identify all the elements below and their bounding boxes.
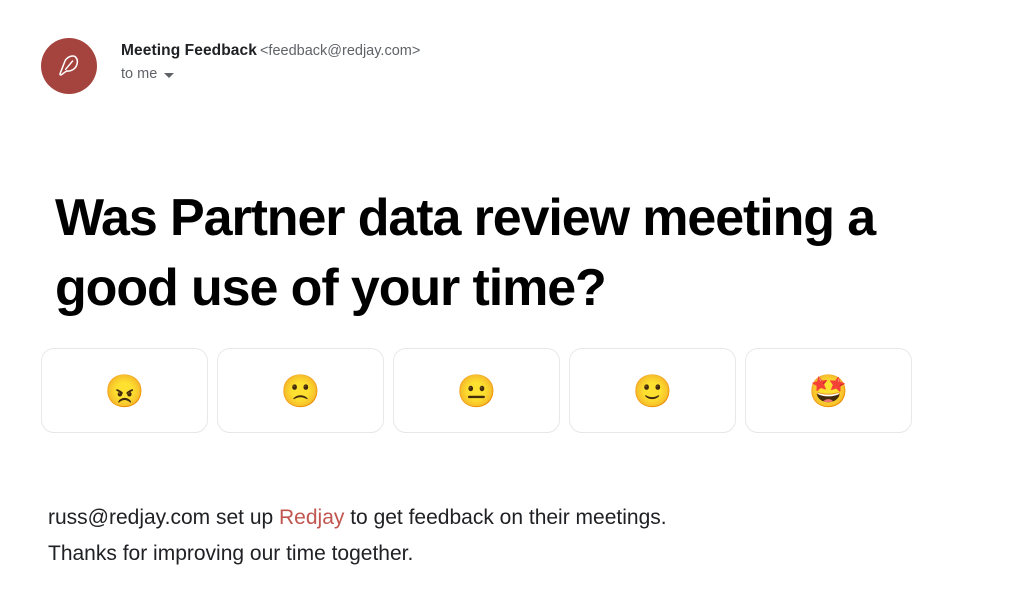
rating-option-angry[interactable]: 😠 <box>41 348 208 433</box>
chevron-down-icon[interactable] <box>164 73 174 78</box>
footer-line2: Thanks for improving our time together. <box>48 542 413 565</box>
recipient-label: to me <box>121 65 157 84</box>
angry-face-icon: 😠 <box>105 375 145 407</box>
sender-email: <feedback@redjay.com> <box>260 43 420 59</box>
star-struck-face-icon: 🤩 <box>809 375 849 407</box>
redjay-brand-link[interactable]: Redjay <box>279 506 344 529</box>
rating-option-neutral[interactable]: 😐 <box>393 348 560 433</box>
sender-line: Meeting Feedback<feedback@redjay.com> <box>121 41 420 61</box>
rating-option-frowning[interactable]: 🙁 <box>217 348 384 433</box>
avatar <box>41 38 97 94</box>
survey-question: Was Partner data review meeting a good u… <box>55 183 955 323</box>
frowning-face-icon: 🙁 <box>281 375 321 407</box>
bird-logo-icon <box>52 49 86 83</box>
neutral-face-icon: 😐 <box>457 375 497 407</box>
sender-name: Meeting Feedback <box>121 42 257 59</box>
footer-line1-suffix: to get feedback on their meetings. <box>344 506 666 529</box>
rating-options-row: 😠 🙁 😐 🙂 🤩 <box>41 348 912 433</box>
footer-line1-prefix: russ@redjay.com set up <box>48 506 279 529</box>
footer-text: russ@redjay.com set up Redjay to get fee… <box>48 500 968 572</box>
email-header: Meeting Feedback<feedback@redjay.com> to… <box>41 38 420 94</box>
recipient-dropdown[interactable]: to me <box>121 65 420 84</box>
rating-option-star-struck[interactable]: 🤩 <box>745 348 912 433</box>
sender-block: Meeting Feedback<feedback@redjay.com> to… <box>121 38 420 84</box>
slightly-smiling-face-icon: 🙂 <box>633 375 673 407</box>
rating-option-slightly-smiling[interactable]: 🙂 <box>569 348 736 433</box>
